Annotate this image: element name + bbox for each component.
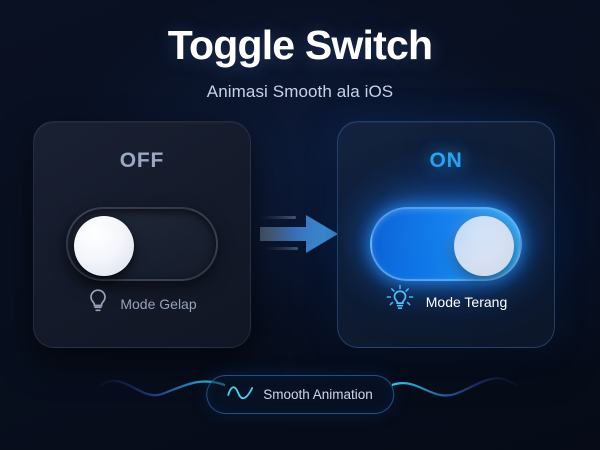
toggle-knob-on[interactable]: [454, 216, 514, 276]
lightbulb-rays-icon: [385, 284, 415, 319]
app-background: Toggle Switch Animasi Smooth ala iOS OFF…: [0, 0, 600, 450]
state-label-on: ON: [338, 149, 554, 173]
toggle-knob-off[interactable]: [74, 216, 134, 276]
transition-arrow: [258, 203, 342, 265]
wave-decoration-right: [392, 372, 517, 413]
page-title: Toggle Switch: [0, 22, 600, 69]
mode-label-on: Mode Terang: [426, 294, 507, 310]
toggle-switch-on[interactable]: [370, 207, 522, 281]
toggle-switch-off[interactable]: [66, 207, 218, 281]
mode-row-on: Mode Terang: [338, 284, 554, 319]
lightbulb-icon: [87, 288, 109, 319]
badge-label: Smooth Animation: [263, 387, 373, 402]
wave-icon: [227, 384, 253, 405]
state-label-off: OFF: [34, 149, 250, 173]
smooth-animation-badge[interactable]: Smooth Animation: [206, 375, 394, 414]
mode-label-off: Mode Gelap: [120, 296, 196, 312]
toggle-card-on[interactable]: ON Mode Terang: [337, 121, 555, 348]
mode-row-off: Mode Gelap: [34, 288, 250, 319]
toggle-card-off[interactable]: OFF Mode Gelap: [33, 121, 251, 348]
page-subtitle: Animasi Smooth ala iOS: [0, 82, 600, 102]
